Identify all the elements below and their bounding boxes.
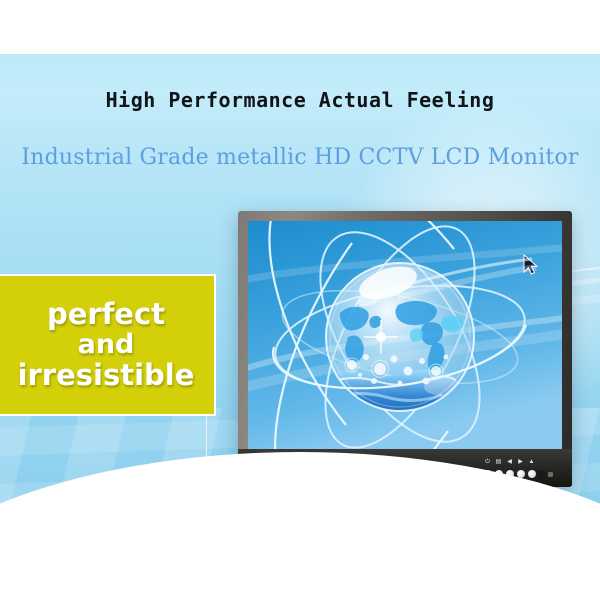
promo-callout-line-1: perfect (47, 299, 165, 330)
page-headline: High Performance Actual Feeling (0, 88, 600, 112)
power-led (538, 471, 544, 477)
background-top-white-band (0, 0, 600, 56)
control-icon-row: ⏻ ▤ ◀ ▶ ▲ (484, 459, 535, 466)
page-subheadline: Industrial Grade metallic HD CCTV LCD Mo… (0, 145, 600, 170)
promo-callout: perfect and irresistible (0, 274, 216, 416)
control-button-5[interactable] (528, 470, 536, 478)
lcd-monitor: ⏻ ▤ ◀ ▶ ▲ (238, 211, 572, 487)
brand-logo-mark (548, 472, 553, 477)
background-bottom-white (0, 530, 600, 600)
left-arrow-icon[interactable]: ◀ (506, 459, 513, 466)
menu-icon[interactable]: ▤ (495, 459, 502, 466)
promo-callout-line-2: and (78, 331, 135, 360)
product-poster: High Performance Actual Feeling Industri… (0, 0, 600, 600)
power-icon[interactable]: ⏻ (484, 459, 491, 466)
right-arrow-icon[interactable]: ▶ (517, 459, 524, 466)
monitor-screen (248, 221, 562, 450)
up-arrow-icon[interactable]: ▲ (528, 459, 535, 466)
promo-callout-line-3: irresistible (18, 360, 195, 391)
